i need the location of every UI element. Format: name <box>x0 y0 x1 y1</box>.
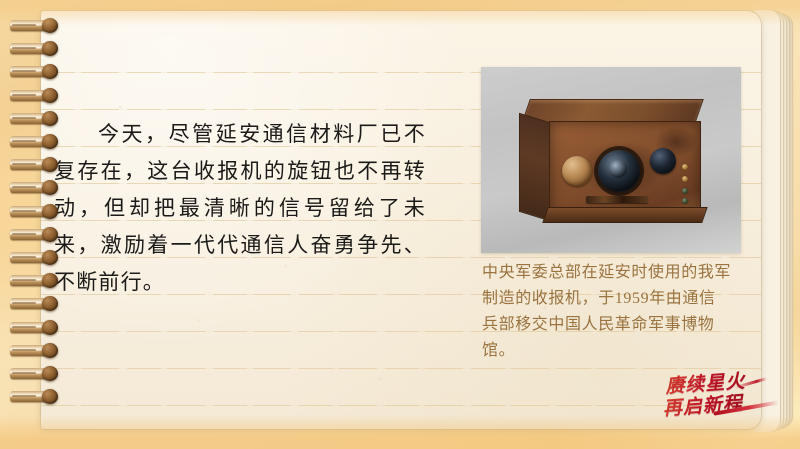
radio-terminal <box>682 198 688 204</box>
binding-ring <box>10 41 58 56</box>
radio-terminal <box>682 188 688 194</box>
binding-ring <box>10 343 58 358</box>
binding-ring-bead <box>42 389 58 404</box>
binding-ring <box>10 366 58 381</box>
binding-ring-bead <box>42 250 58 265</box>
binding-ring-bead <box>42 88 58 103</box>
binding-ring-bead <box>42 343 58 358</box>
binding-ring-bead <box>42 111 58 126</box>
radio-base <box>542 207 708 223</box>
binding-ring <box>10 389 58 404</box>
radio-side-panel <box>519 113 553 222</box>
radio-terminal <box>682 176 688 182</box>
binding-ring-bead <box>42 366 58 381</box>
binding-ring-bead <box>42 18 58 33</box>
binding-ring-bead <box>42 157 58 172</box>
binding-ring <box>10 250 58 265</box>
body-paragraph: 今天，尽管延安通信材料厂已不复存在，这台收报机的旋钮也不再转动，但却把最清晰的信… <box>54 116 426 301</box>
radio-knob-right <box>650 148 676 174</box>
radio-knob-center <box>598 150 640 192</box>
binding-ring <box>10 296 58 311</box>
binding-ring <box>10 134 58 149</box>
radio-receiver-illustration <box>519 99 709 221</box>
binding-ring <box>10 320 58 335</box>
binding-ring <box>10 227 58 242</box>
radio-knob-left <box>562 156 592 186</box>
binding-ring-bead <box>42 296 58 311</box>
binding-ring <box>10 64 58 79</box>
radio-photo <box>481 67 741 253</box>
photo-caption: 中央军委总部在延安时使用的我军制造的收报机，于1959年由通信兵部移交中国人民革… <box>482 260 732 364</box>
binding-ring <box>10 204 58 219</box>
binding-ring <box>10 273 58 288</box>
binding-ring <box>10 157 58 172</box>
radio-terminal <box>682 164 688 170</box>
binding-ring <box>10 88 58 103</box>
binding-ring <box>10 18 58 33</box>
campaign-logo: 赓续星火 再启新程 <box>660 364 775 422</box>
radio-latch <box>586 196 648 203</box>
slide-canvas: 今天，尽管延安通信材料厂已不复存在，这台收报机的旋钮也不再转动，但却把最清晰的信… <box>0 0 800 449</box>
spiral-binding <box>0 0 60 449</box>
binding-ring-bead <box>42 41 58 56</box>
radio-front-panel <box>549 121 701 221</box>
binding-ring-bead <box>42 204 58 219</box>
binding-ring-bead <box>42 180 58 195</box>
binding-ring <box>10 111 58 126</box>
binding-ring-bead <box>42 134 58 149</box>
binding-ring <box>10 180 58 195</box>
binding-ring-bead <box>42 273 58 288</box>
binding-ring-bead <box>42 320 58 335</box>
binding-ring-bead <box>42 64 58 79</box>
binding-ring-bead <box>42 227 58 242</box>
